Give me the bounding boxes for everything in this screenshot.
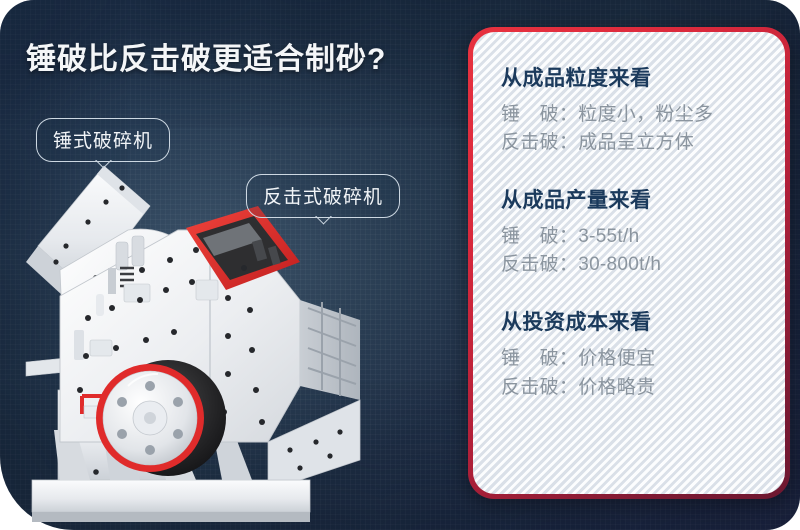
section-row-impact: 反击破：成品呈立方体 (501, 129, 785, 157)
section-row-hammer: 锤 破：3-55t/h (501, 223, 785, 251)
callout-tail-icon (312, 216, 334, 228)
comparison-panel-body: 从成品粒度来看 锤 破：粒度小，粉尘多 反击破：成品呈立方体 从成品产量来看 锤… (473, 32, 785, 494)
section-title: 从成品产量来看 (501, 184, 785, 214)
section-title: 从成品粒度来看 (501, 62, 785, 92)
section-row-hammer: 锤 破：价格便宜 (501, 345, 785, 373)
page-title: 锤破比反击破更适合制砂? (26, 34, 386, 78)
section-row-impact: 反击破：30-800t/h (501, 251, 785, 279)
callout-tail-icon (92, 160, 114, 172)
section-row-hammer: 锤 破：粒度小，粉尘多 (501, 101, 785, 129)
section-output-capacity: 从成品产量来看 锤 破：3-55t/h 反击破：30-800t/h (501, 184, 785, 279)
section-investment-cost: 从投资成本来看 锤 破：价格便宜 反击破：价格略贵 (501, 306, 785, 401)
infographic-canvas: 锤破比反击破更适合制砂? 锤式破碎机 反击式破碎机 从成品粒度来看 锤 破：粒度… (0, 0, 800, 530)
crusher-illustration (0, 150, 470, 530)
section-row-impact: 反击破：价格略贵 (501, 374, 785, 402)
section-particle-size: 从成品粒度来看 锤 破：粒度小，粉尘多 反击破：成品呈立方体 (501, 62, 785, 157)
section-title: 从投资成本来看 (501, 306, 785, 336)
callout-hammer-crusher-label: 锤式破碎机 (53, 131, 153, 152)
callout-hammer-crusher: 锤式破碎机 (36, 118, 170, 162)
callout-impact-crusher: 反击式破碎机 (246, 174, 400, 218)
callout-impact-crusher-label: 反击式破碎机 (263, 187, 383, 208)
comparison-panel: 从成品粒度来看 锤 破：粒度小，粉尘多 反击破：成品呈立方体 从成品产量来看 锤… (468, 27, 790, 499)
